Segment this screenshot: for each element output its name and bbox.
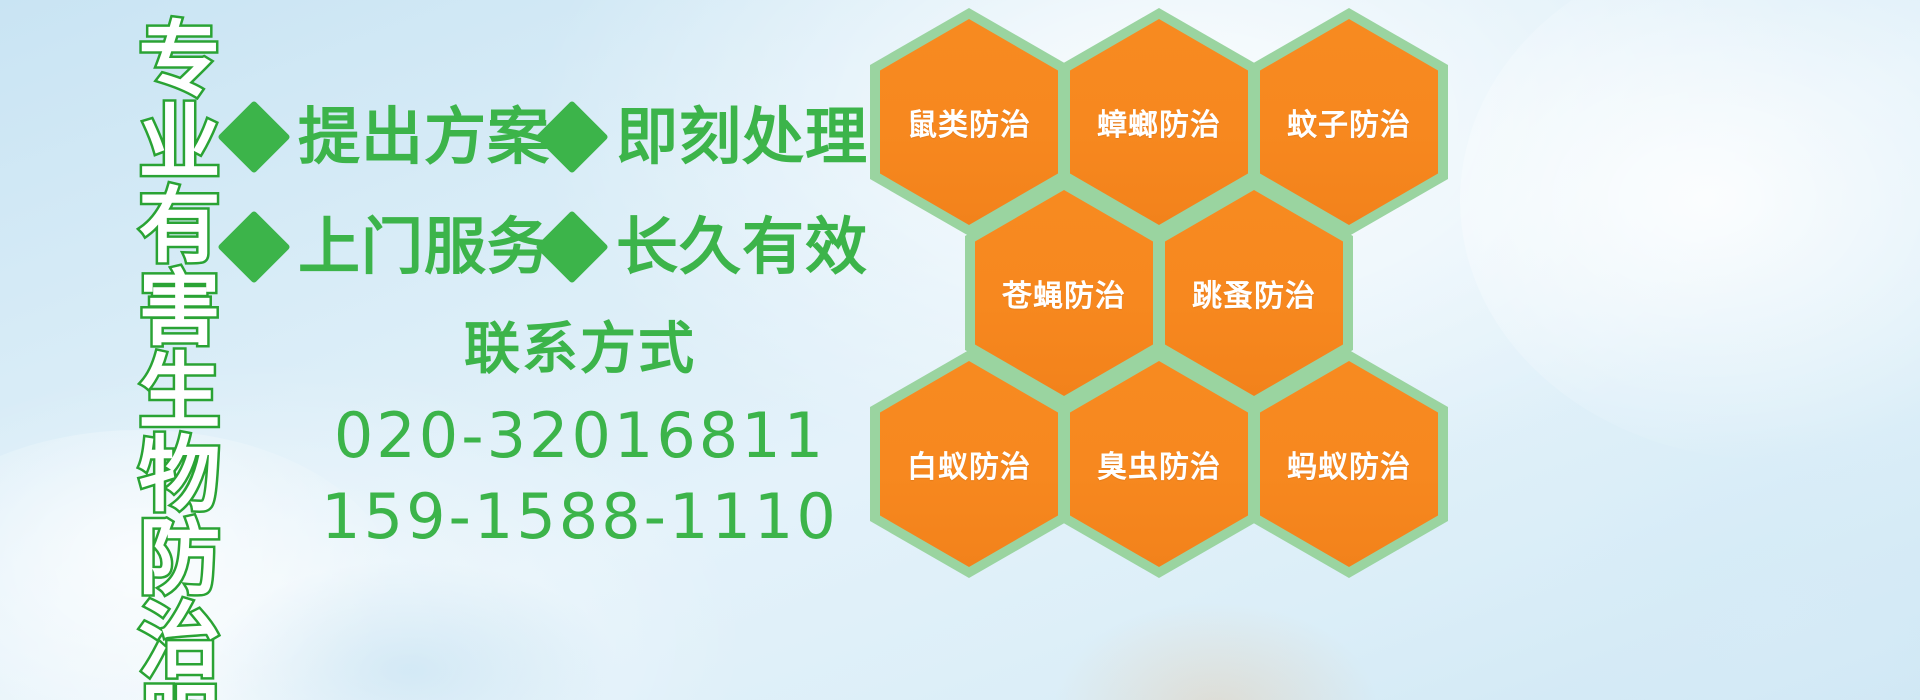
feature-item-propose-plan: 提出方案 (228, 106, 546, 168)
feature-item-immediate-handling: 即刻处理 (546, 106, 868, 168)
hex-label: 鼠类防治 (907, 100, 1031, 144)
hex-inner: 白蚁防治 (880, 361, 1058, 567)
background-blob (1050, 600, 1380, 700)
hex-label: 蚂蚁防治 (1287, 442, 1411, 486)
diamond-bullet-icon (217, 100, 291, 174)
hex-inner: 跳蚤防治 (1165, 190, 1343, 396)
hex-inner: 臭虫防治 (1070, 361, 1248, 567)
hex-label: 蚊子防治 (1287, 100, 1411, 144)
hex-inner: 鼠类防治 (880, 19, 1058, 225)
service-honeycomb: 鼠类防治 蟑螂防治 蚊子防治 苍蝇防治 跳蚤防治 白蚁防治 (866, 0, 1466, 560)
feature-row: 提出方案 即刻处理 (228, 82, 868, 192)
phone-landline[interactable]: 020-32016811 (300, 396, 860, 477)
vertical-title: 专业有害生物防治服务 (106, 16, 212, 684)
feature-list: 提出方案 即刻处理 上门服务 长久有效 (228, 82, 868, 302)
feature-item-long-lasting-effect: 长久有效 (546, 216, 868, 278)
background-blob (200, 560, 620, 700)
hex-label: 臭虫防治 (1097, 442, 1221, 486)
background-blob (1460, 0, 1920, 460)
pest-control-banner: 专业有害生物防治服务 提出方案 即刻处理 上门服务 长久有效 联系方式 0 (0, 0, 1920, 700)
hex-label: 跳蚤防治 (1192, 271, 1316, 315)
phone-mobile[interactable]: 159-1588-1110 (300, 477, 860, 558)
contact-title: 联系方式 (300, 318, 860, 382)
hex-inner: 苍蝇防治 (975, 190, 1153, 396)
diamond-bullet-icon (535, 100, 609, 174)
diamond-bullet-icon (217, 210, 291, 284)
hex-inner: 蚂蚁防治 (1260, 361, 1438, 567)
contact-block: 联系方式 020-32016811 159-1588-1110 (300, 318, 860, 558)
feature-item-door-to-door-service: 上门服务 (228, 216, 546, 278)
hex-label: 苍蝇防治 (1002, 271, 1126, 315)
feature-row: 上门服务 长久有效 (228, 192, 868, 302)
diamond-bullet-icon (535, 210, 609, 284)
feature-label: 提出方案 (298, 106, 550, 168)
hex-inner: 蚊子防治 (1260, 19, 1438, 225)
feature-label: 上门服务 (298, 216, 550, 278)
feature-label: 长久有效 (616, 216, 868, 278)
feature-label: 即刻处理 (616, 106, 868, 168)
hex-label: 白蚁防治 (907, 442, 1031, 486)
background-blob (1530, 420, 1920, 700)
hex-label: 蟑螂防治 (1097, 100, 1221, 144)
hex-inner: 蟑螂防治 (1070, 19, 1248, 225)
